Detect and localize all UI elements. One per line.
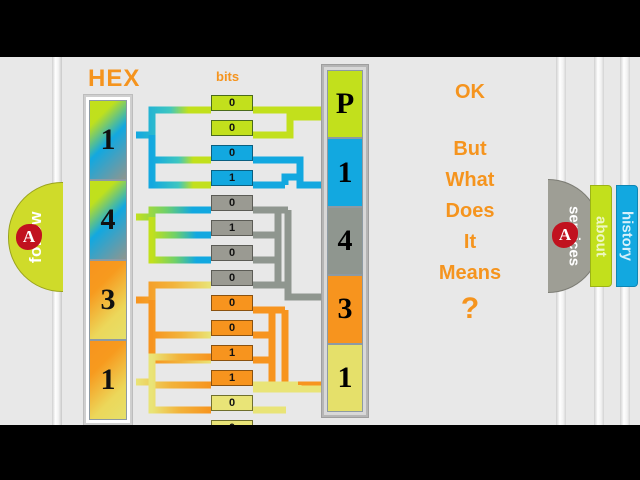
caption-question-mark: ? — [390, 289, 550, 329]
sidebar-tab-history[interactable]: history — [616, 185, 638, 287]
bit-cell: 0 — [211, 95, 253, 111]
output-cell: 1 — [327, 138, 363, 206]
page-content: follow A HEX bits 1431 0001010000110001 … — [0, 57, 640, 425]
hex-cell: 1 — [89, 100, 127, 180]
caption-line-2: But — [390, 134, 550, 165]
tab-label-about: about — [593, 216, 610, 257]
bit-cell: 0 — [211, 320, 253, 336]
output-cell: 4 — [327, 207, 363, 275]
bit-cell: 0 — [211, 295, 253, 311]
bit-cell: 0 — [211, 245, 253, 261]
sidebar-tab-about[interactable]: about — [590, 185, 612, 287]
tab-label-history: history — [619, 211, 636, 261]
bits-column: 0001010000110001 — [211, 87, 253, 423]
heading-bits: bits — [216, 69, 239, 84]
output-cell: P — [327, 70, 363, 138]
bit-cell: 0 — [211, 270, 253, 286]
hex-cell: 4 — [89, 180, 127, 260]
bit-cell: 1 — [211, 370, 253, 386]
bit-cell: 0 — [211, 195, 253, 211]
bit-cell: 0 — [211, 420, 253, 425]
bit-cell: 1 — [211, 170, 253, 186]
caption-block: OK But What Does It Means ? — [390, 77, 550, 329]
caption-line-1: OK — [390, 77, 550, 108]
output-column: P1431 — [322, 65, 368, 417]
caption-line-5: It — [390, 227, 550, 258]
hex-column: 1431 — [84, 95, 132, 425]
caption-line-4: Does — [390, 196, 550, 227]
heading-hex: HEX — [88, 65, 140, 93]
bit-cell: 0 — [211, 145, 253, 161]
output-cell: 3 — [327, 275, 363, 343]
bit-cell: 0 — [211, 395, 253, 411]
hex-cell: 3 — [89, 260, 127, 340]
hex-cell: 1 — [89, 340, 127, 420]
caption-line-3: What — [390, 165, 550, 196]
output-cell: 1 — [327, 344, 363, 412]
bit-cell: 0 — [211, 120, 253, 136]
screenshot-stage: follow A HEX bits 1431 0001010000110001 … — [0, 0, 640, 480]
bit-cell: 1 — [211, 220, 253, 236]
caption-line-6: Means — [390, 258, 550, 289]
bit-cell: 1 — [211, 345, 253, 361]
